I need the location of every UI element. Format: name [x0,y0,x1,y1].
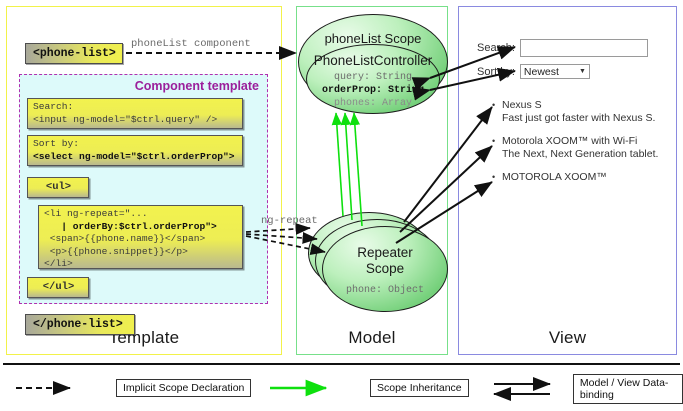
sort-template-code: Sort by: <select ng-model="$ctrl.orderPr… [27,135,243,166]
search-code-line1: Search: [33,101,73,112]
controller-property-phones: phones: Array [307,98,439,109]
diagram-canvas: Template Model View <phone-list> Compone… [0,0,683,411]
view-sort-selected-value: Newest [524,66,559,78]
panel-view-label: View [459,328,676,348]
sort-code-line1: Sort by: [33,138,79,149]
ul-open-code: <ul> [27,177,89,198]
dashed-arrow-icon [14,378,112,398]
ul-close-label: </ul> [43,281,75,294]
phone-snippet: Fast just got faster with Nexus S. [492,112,672,125]
controller-property-query: query: String [307,72,439,83]
repeater-scope-ellipse-3: Repeater Scope phone: Object [322,226,448,312]
phone-name: Motorola XOOM™ with Wi-Fi [492,135,672,148]
phone-name: Nexus S [492,99,672,112]
list-item[interactable]: Nexus S Fast just got faster with Nexus … [492,99,672,125]
li-code-line4: <p>{{phone.snippet}}</p> [50,246,188,257]
li-code-line2: | orderBy:$ctrl.orderProp"> [61,221,216,232]
repeater-scope-property: phone: Object [323,285,447,296]
li-repeat-code: <li ng-repeat="... | orderBy:$ctrl.order… [38,205,243,269]
list-item[interactable]: Motorola XOOM™ with Wi-Fi The Next, Next… [492,135,672,161]
ngrepeat-edge-label: ng-repeat [261,215,318,227]
legend: Implicit Scope Declaration Scope Inherit… [0,370,683,408]
sort-code-line2: <select ng-model="$ctrl.orderProp"> [33,151,235,162]
chevron-down-icon: ▼ [579,68,586,75]
li-code-line5: </li> [44,258,73,269]
phone-snippet: The Next, Next Generation tablet. [492,148,672,161]
phone-list-close-tag: </phone-list> [25,314,135,335]
ul-open-label: <ul> [46,181,71,194]
component-template-title: Component template [135,79,259,93]
search-code-line2: <input ng-model="$ctrl.query" /> [33,114,217,125]
legend-label-implicit-scope: Implicit Scope Declaration [116,379,251,397]
phonelist-controller-ellipse: PhoneListController query: String orderP… [306,44,440,114]
controller-property-orderprop: orderProp: String [307,85,439,96]
phone-list-open-tag: <phone-list> [25,43,123,64]
li-code-line1: <li ng-repeat="... [44,208,148,219]
view-sort-select[interactable]: Newest ▼ [520,64,590,79]
green-arrow-icon [268,378,366,398]
view-search-row: Search: [477,39,648,57]
search-template-code: Search: <input ng-model="$ctrl.query" /> [27,98,243,129]
phonelist-component-edge-label: phoneList component [131,38,251,50]
view-sort-row: Sort by: Newest ▼ [477,64,590,79]
view-search-label: Search: [477,42,515,54]
legend-item-data-binding: Model / View Data-binding [492,374,683,404]
legend-item-implicit-scope: Implicit Scope Declaration [14,378,251,398]
li-code-line3: <span>{{phone.name}}</span> [50,233,205,244]
list-item[interactable]: MOTOROLA XOOM™ [492,171,672,184]
legend-label-scope-inheritance: Scope Inheritance [370,379,469,397]
view-sort-label: Sort by: [477,66,515,78]
double-arrow-icon [492,376,569,402]
panel-model-label: Model [297,328,447,348]
view-search-input[interactable] [520,39,648,57]
legend-divider [3,363,680,365]
repeater-scope-label-line2: Scope [323,261,447,276]
view-phone-list: Nexus S Fast just got faster with Nexus … [492,99,672,194]
legend-item-scope-inheritance: Scope Inheritance [268,378,469,398]
ul-close-code: </ul> [27,277,89,298]
phonelist-controller-label: PhoneListController [307,53,439,68]
phone-name: MOTOROLA XOOM™ [492,171,672,184]
repeater-scope-label-line1: Repeater [323,245,447,260]
